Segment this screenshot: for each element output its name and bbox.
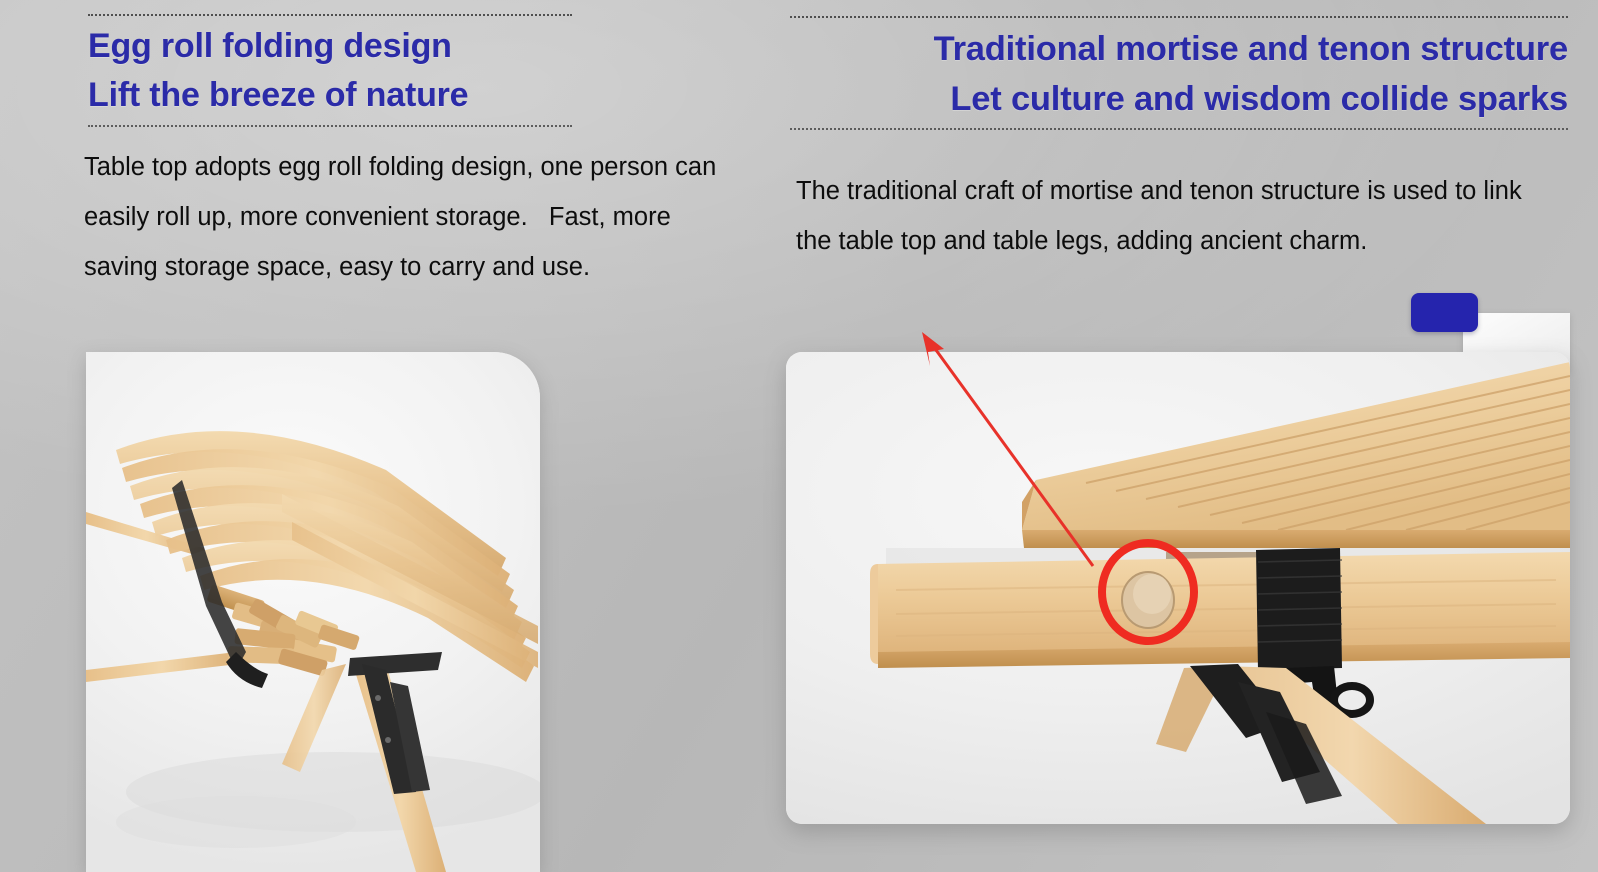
divider-top-right [790,16,1568,18]
divider-bottom-left [88,125,572,127]
divider-top-left [88,14,572,16]
right-body-text: The traditional craft of mortise and ten… [796,166,1556,266]
divider-bottom-right [790,128,1568,130]
left-headline-line2: Lift the breeze of nature [88,71,572,120]
right-photo-illustration [786,352,1570,824]
blue-corner-badge [1411,293,1478,332]
right-product-photo [786,352,1570,824]
right-headline-line2: Let culture and wisdom collide sparks [790,74,1568,124]
left-body-text: Table top adopts egg roll folding design… [84,142,744,292]
right-heading-block: Traditional mortise and tenon structure … [790,16,1568,130]
left-heading-block: Egg roll folding design Lift the breeze … [88,14,572,127]
left-headline-line1: Egg roll folding design [88,27,452,65]
poster-canvas: Egg roll folding design Lift the breeze … [0,0,1598,872]
left-product-photo [86,352,540,872]
right-headline: Traditional mortise and tenon structure … [790,18,1568,128]
left-headline: Egg roll folding design Lift the breeze … [88,16,572,125]
right-headline-line1: Traditional mortise and tenon structure [934,30,1568,68]
left-photo-illustration [86,352,540,872]
